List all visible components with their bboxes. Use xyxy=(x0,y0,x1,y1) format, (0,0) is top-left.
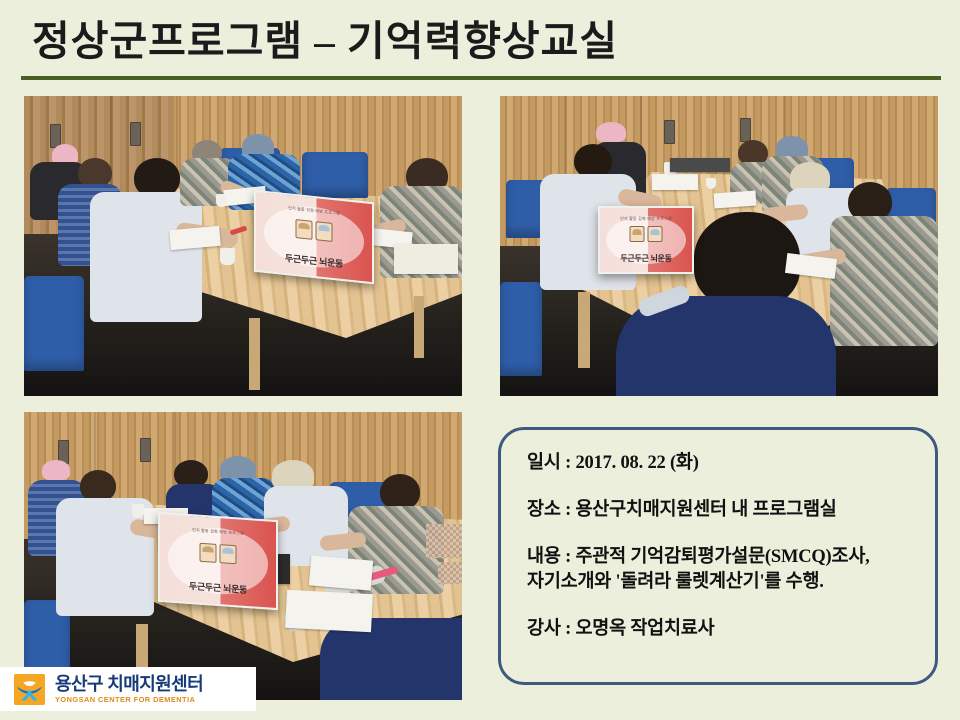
info-line-content: 내용 : 주관적 기억감퇴평가설문(SMCQ)조사, 자기소개와 '돌려라 룰렛… xyxy=(527,545,921,595)
info-line-instructor: 강사 : 오명옥 작업치료사 xyxy=(527,617,921,642)
yongsan-logo-icon xyxy=(14,674,45,705)
blurred-face xyxy=(438,562,462,584)
blurred-face xyxy=(426,524,462,558)
program-sign: 인지 활동 강화 예방 프로그램 두근두근 뇌운동 xyxy=(598,206,694,274)
wall-outlet-icon xyxy=(130,122,141,146)
wall-outlet-icon xyxy=(140,438,151,462)
info-content-part2: 자기소개와 '돌려라 룰렛계산기'를 수행. xyxy=(527,572,824,592)
photo-top-right: 인지 활동 강화 예방 프로그램 두근두근 뇌운동 xyxy=(500,96,938,396)
program-sign: 인지 활동 강화 예방 프로그램 두근두근 뇌운동 xyxy=(158,512,278,610)
event-info-box: 일시 : 2017. 08. 22 (화) 장소 : 용산구치매지원센터 내 프… xyxy=(498,427,938,685)
title-divider xyxy=(21,76,941,80)
program-sign: 인지 활동 강화 예방 프로그램 두근두근 뇌운동 xyxy=(254,190,374,285)
slide-canvas: 정상군프로그램 – 기억력향상교실 xyxy=(0,0,960,720)
logo-korean-text: 용산구 치매지원센터 xyxy=(55,675,203,693)
photo-bottom-left: 인지 활동 강화 예방 프로그램 두근두근 뇌운동 xyxy=(24,412,462,700)
photo-top-left: 인지 활동 강화 예방 프로그램 두근두근 뇌운동 xyxy=(24,96,462,396)
wall-outlet-icon xyxy=(740,118,751,142)
wall-outlet-icon xyxy=(664,120,675,144)
info-line-date: 일시 : 2017. 08. 22 (화) xyxy=(527,451,921,476)
logo-english-text: YONGSAN CENTER FOR DEMENTIA xyxy=(55,696,203,703)
page-title: 정상군프로그램 – 기억력향상교실 xyxy=(32,12,912,70)
sign-main-text: 두근두근 뇌운동 xyxy=(600,253,692,264)
info-line-place: 장소 : 용산구치매지원센터 내 프로그램실 xyxy=(527,498,921,523)
center-logo: 용산구 치매지원센터 YONGSAN CENTER FOR DEMENTIA xyxy=(0,667,256,711)
sign-top-text: 인지 활동 강화 예방 프로그램 xyxy=(600,216,692,222)
info-content-part1: 내용 : 주관적 기억감퇴평가설문(SMCQ)조사, xyxy=(527,547,870,567)
